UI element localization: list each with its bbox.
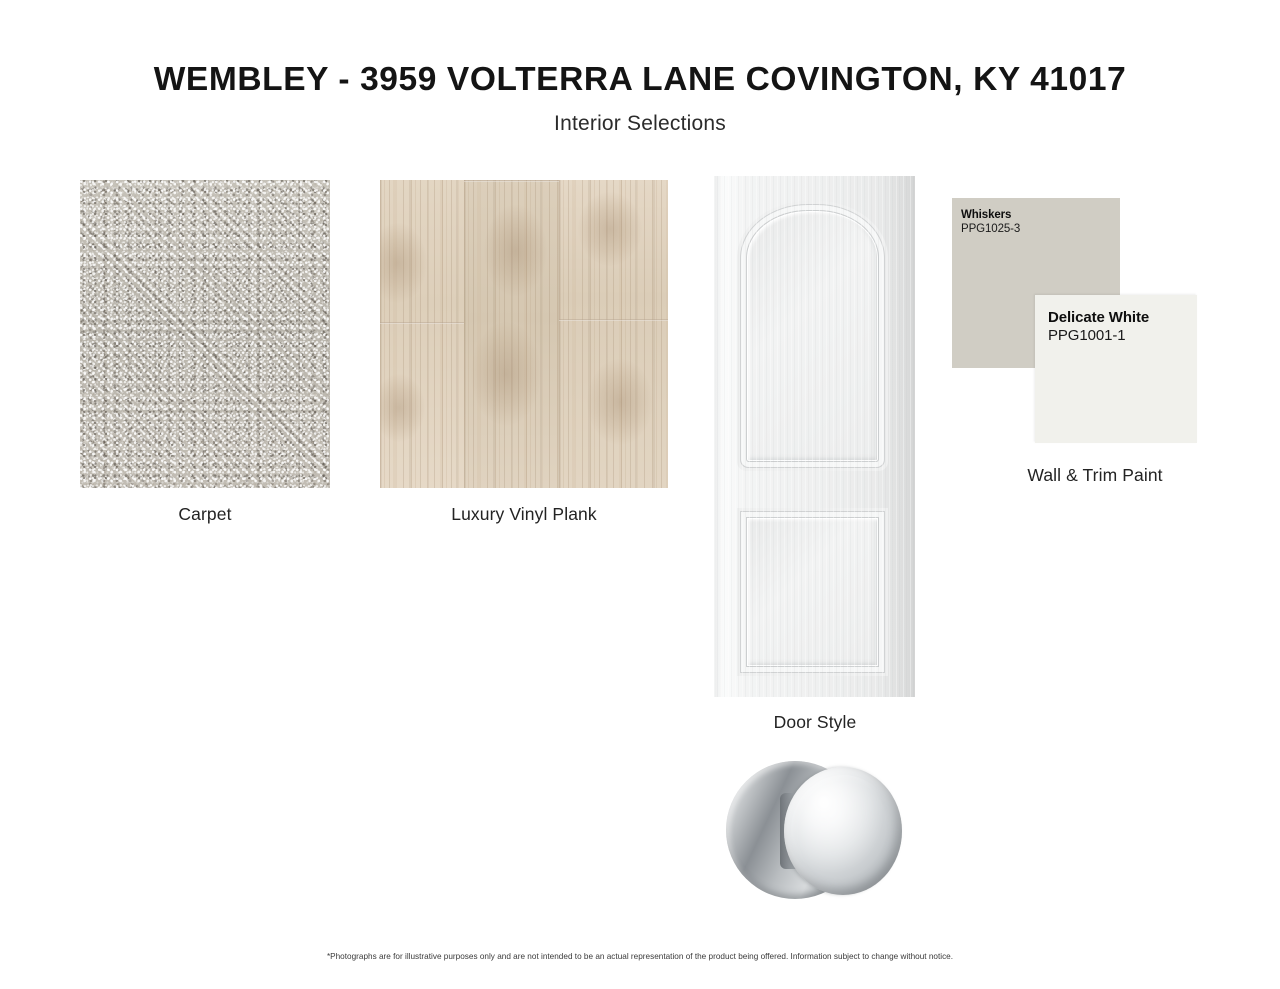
- lvp-plank: [464, 180, 559, 488]
- door-style-image: [714, 176, 915, 697]
- door-lower-panel: [746, 517, 879, 667]
- lvp-seam: [464, 180, 559, 182]
- board-header: WEMBLEY - 3959 VOLTERRA LANE COVINGTON, …: [0, 0, 1280, 136]
- lvp-seam: [380, 322, 464, 324]
- page-title: WEMBLEY - 3959 VOLTERRA LANE COVINGTON, …: [0, 0, 1280, 99]
- lvp-plank: [380, 180, 464, 488]
- paint-chip-delicate-white: Delicate White PPG1001-1: [1035, 295, 1197, 443]
- lvp-seam: [559, 319, 668, 321]
- lvp-knot: [587, 359, 653, 445]
- luxury-vinyl-plank-label: Luxury Vinyl Plank: [380, 504, 668, 525]
- lvp-knot: [484, 205, 547, 297]
- knob-head: [784, 767, 902, 895]
- footer-disclaimer: *Photographs are for illustrative purpos…: [0, 952, 1280, 961]
- carpet-swatch: [80, 180, 330, 488]
- door-knob-image: [722, 757, 902, 903]
- page-subtitle: Interior Selections: [0, 99, 1280, 136]
- wall-trim-paint-label: Wall & Trim Paint: [960, 465, 1230, 486]
- carpet-label: Carpet: [80, 504, 330, 525]
- paint-chip-delicate-white-code: PPG1001-1: [1048, 327, 1197, 345]
- paint-chip-whiskers-name: Whiskers: [961, 209, 1120, 223]
- paint-chip-whiskers-code: PPG1025-3: [961, 223, 1120, 237]
- lvp-plank: [559, 180, 668, 488]
- luxury-vinyl-plank-swatch: [380, 180, 668, 488]
- lvp-knot: [578, 192, 641, 266]
- paint-chip-delicate-white-name: Delicate White: [1048, 309, 1197, 327]
- door-upper-panel: [746, 210, 879, 462]
- door-style-label: Door Style: [690, 712, 940, 733]
- paint-swatch-group: Whiskers PPG1025-3 Delicate White PPG100…: [952, 198, 1198, 444]
- knob-head-highlight: [791, 775, 895, 887]
